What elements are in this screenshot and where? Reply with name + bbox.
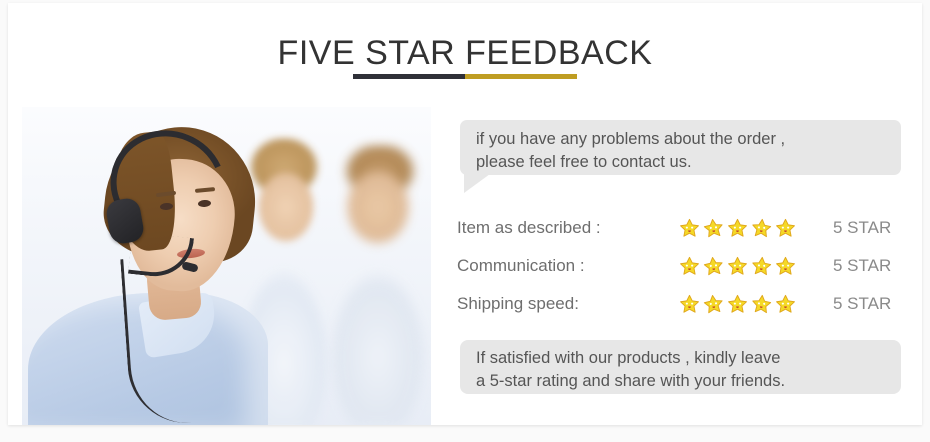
- banner-card: FIVE STAR FEEDBACK i: [8, 3, 922, 425]
- speech-bubble-tail: [464, 174, 490, 193]
- star-icon: [750, 255, 773, 278]
- title-underline-gold: [465, 74, 577, 79]
- rating-value: 5 STAR: [833, 256, 891, 276]
- rating-value: 5 STAR: [833, 218, 891, 238]
- ratings-list: Item as described : 5 STAR Communication…: [457, 209, 901, 323]
- rating-label: Shipping speed:: [457, 294, 679, 314]
- title-underline-dark: [353, 74, 465, 79]
- page-title: FIVE STAR FEEDBACK: [8, 34, 922, 73]
- rating-row: Item as described : 5 STAR: [457, 209, 901, 247]
- rating-stars: [679, 256, 803, 277]
- star-icon: [679, 218, 700, 239]
- contact-speech-text: if you have any problems about the order…: [476, 128, 885, 174]
- star-icon: [702, 254, 725, 277]
- star-icon: [679, 294, 700, 315]
- rating-stars: [679, 294, 803, 315]
- star-icon: [702, 216, 725, 239]
- rating-stars: [679, 218, 803, 239]
- contact-speech-bubble: if you have any problems about the order…: [460, 120, 901, 175]
- agent-photo: [22, 107, 431, 425]
- rating-label: Communication :: [457, 256, 679, 276]
- rating-request-text: If satisfied with our products , kindly …: [476, 347, 885, 393]
- rating-row: Shipping speed: 5 STAR: [457, 285, 901, 323]
- rating-label: Item as described :: [457, 218, 679, 238]
- star-icon: [727, 256, 748, 277]
- star-icon: [679, 256, 700, 277]
- star-icon: [775, 294, 796, 315]
- rating-value: 5 STAR: [833, 294, 891, 314]
- star-icon: [775, 256, 796, 277]
- star-icon: [727, 218, 748, 239]
- star-icon: [702, 292, 725, 315]
- star-icon: [750, 217, 773, 240]
- rating-request-box: If satisfied with our products , kindly …: [460, 340, 901, 394]
- star-icon: [775, 218, 796, 239]
- feedback-banner: FIVE STAR FEEDBACK i: [0, 0, 930, 442]
- star-icon: [727, 294, 748, 315]
- rating-row: Communication : 5 STAR: [457, 247, 901, 285]
- star-icon: [750, 293, 773, 316]
- title-underline: [353, 74, 577, 79]
